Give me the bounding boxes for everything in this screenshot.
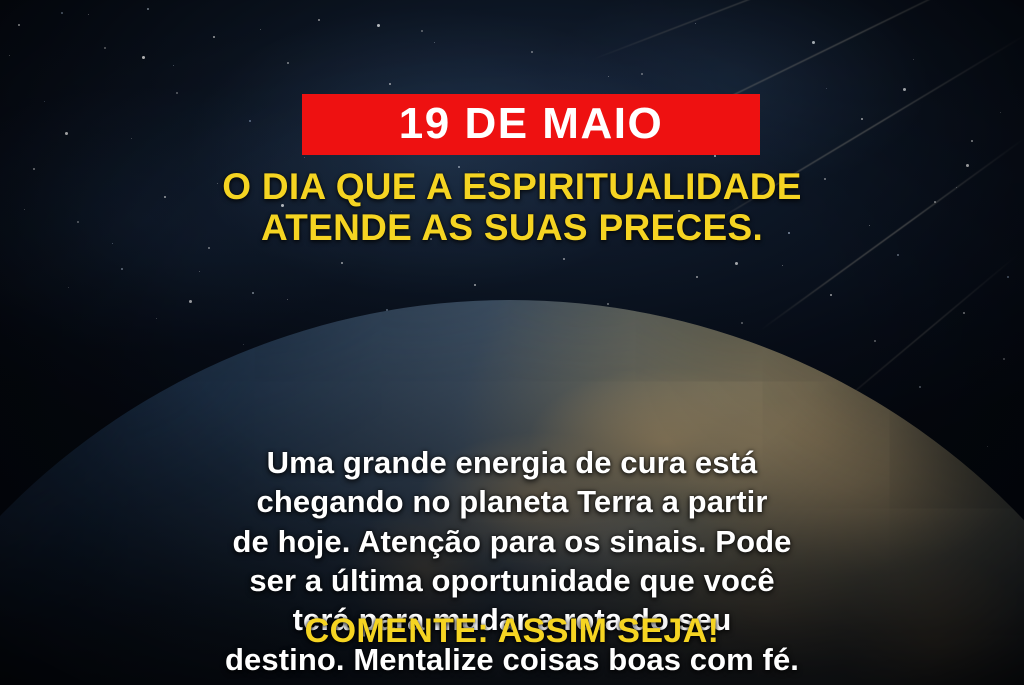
poster-canvas: 19 DE MAIO O DIA QUE A ESPIRITUALIDADE A… [0,0,1024,685]
headline-line-1: O DIA QUE A ESPIRITUALIDADE [222,166,802,207]
body-line: de hoje. Atenção para os sinais. Pode [233,524,792,559]
body-line: ser a última oportunidade que você [249,563,774,598]
body-line: chegando no planeta Terra a partir [257,484,768,519]
call-to-action: COMENTE: ASSIM SEJA! [0,612,1024,651]
headline: O DIA QUE A ESPIRITUALIDADE ATENDE AS SU… [0,166,1024,249]
headline-line-2: ATENDE AS SUAS PRECES. [40,207,984,248]
date-badge: 19 DE MAIO [302,94,760,155]
body-line: Uma grande energia de cura está [267,445,758,480]
date-badge-label: 19 DE MAIO [399,102,663,146]
poster-content: 19 DE MAIO O DIA QUE A ESPIRITUALIDADE A… [0,0,1024,685]
call-to-action-label: COMENTE: ASSIM SEJA! [305,612,720,650]
